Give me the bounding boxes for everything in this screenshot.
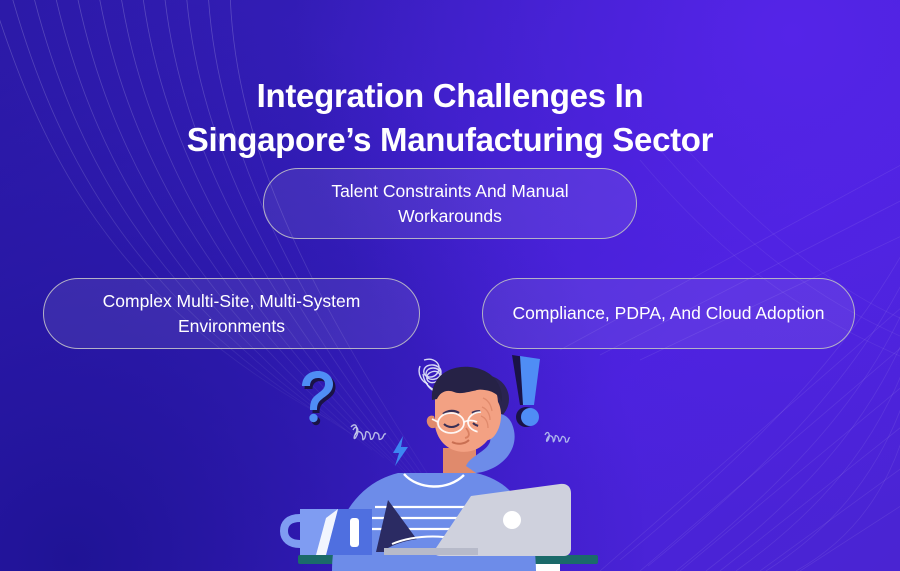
page-title-line-1: Integration Challenges In bbox=[0, 74, 900, 118]
challenge-card-multisite[interactable]: Complex Multi-Site, Multi-System Environ… bbox=[43, 278, 420, 349]
page-title: Integration Challenges In Singapore’s Ma… bbox=[0, 74, 900, 161]
challenge-card-compliance[interactable]: Compliance, PDPA, And Cloud Adoption bbox=[482, 278, 855, 349]
lightning-bolt-small-icon bbox=[393, 436, 408, 466]
illustration-svg bbox=[280, 352, 625, 571]
stressed-office-worker-illustration bbox=[280, 352, 625, 571]
coffee-mug-icon bbox=[284, 509, 372, 555]
challenge-card-talent[interactable]: Talent Constraints And Manual Workaround… bbox=[263, 168, 637, 239]
spring-squiggle-small-icon bbox=[545, 432, 570, 442]
spring-squiggle-icon bbox=[351, 425, 386, 440]
question-mark-icon bbox=[302, 371, 336, 425]
infographic-canvas: Integration Challenges In Singapore’s Ma… bbox=[0, 0, 900, 571]
exclamation-mark-icon bbox=[512, 355, 540, 427]
challenge-card-label: Talent Constraints And Manual Workaround… bbox=[284, 179, 616, 229]
page-title-line-2: Singapore’s Manufacturing Sector bbox=[0, 118, 900, 162]
challenge-card-label: Complex Multi-Site, Multi-System Environ… bbox=[64, 289, 399, 339]
challenge-card-label: Compliance, PDPA, And Cloud Adoption bbox=[513, 301, 825, 326]
laptop-keyboard-base bbox=[384, 548, 478, 555]
